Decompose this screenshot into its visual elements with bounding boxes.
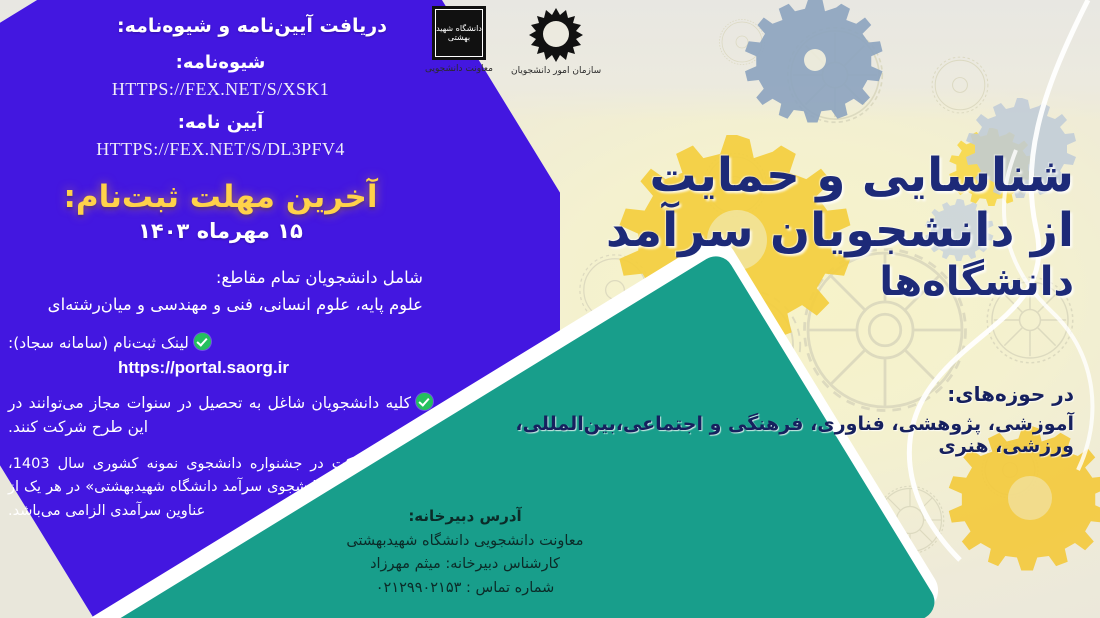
poster-canvas: دریافت آیین‌نامه و شیوه‌نامه: شیوه‌نامه:… (0, 0, 1100, 618)
method-url[interactable]: HTTPS://FEX.NET/S/XSK1 (8, 79, 433, 100)
saorg-starburst-icon (526, 6, 586, 62)
download-heading: دریافت آیین‌نامه و شیوه‌نامه: (8, 14, 415, 40)
logo-row: دانشگاه شهید بهشتی معاونت دانشجویی سازما… (425, 6, 655, 116)
sbu-emblem-icon: دانشگاه شهید بهشتی (432, 6, 486, 60)
scope-line-1: شامل دانشجویان تمام مقاطع: (8, 265, 433, 291)
sbu-caption: معاونت دانشجویی (425, 64, 493, 76)
method-label: شیوه‌نامه: (8, 50, 433, 75)
title-line-3: دانشگاه‌ها (574, 259, 1074, 306)
registration-portal-link[interactable]: https://portal.saorg.ir (8, 358, 399, 378)
secretariat-phone: شماره تماس : ۰۲۱۲۹۹۰۲۱۵۳ (300, 577, 630, 600)
fields-heading: در حوزه‌های: (454, 382, 1074, 406)
secretariat-block: آدرس دبیرخانه: معاونت دانشجویی دانشگاه ش… (300, 504, 630, 600)
deadline-heading: آخرین مهلت ثبت‌نام: (8, 178, 433, 217)
sbu-emblem-text: دانشگاه شهید بهشتی (435, 9, 483, 57)
bullet-item-registration-link: لینک ثبت‌نام (سامانه سجاد): (8, 331, 433, 356)
secretariat-line-2: کارشناس دبیرخانه: میثم مهرزاد (300, 553, 630, 576)
secretariat-heading: آدرس دبیرخانه: (300, 504, 630, 528)
regulation-url[interactable]: HTTPS://FEX.NET/S/DL3PFV4 (8, 139, 433, 160)
saorg-caption: سازمان امور دانشجویان (511, 66, 601, 78)
regulation-label: آیین نامه: (8, 110, 433, 135)
check-icon (194, 333, 211, 350)
deadline-date: ۱۵ مهرماه ۱۴۰۳ (8, 219, 433, 243)
scope-line-2: علوم پایه، علوم انسانی، فنی و مهندسی و م… (8, 292, 433, 318)
bullet-text: کلیه دانشجویان شاغل به تحصیل در سنوات مج… (8, 391, 411, 441)
fields-block: در حوزه‌های: آموزشی، پژوهشی، فناوری، فره… (454, 382, 1074, 457)
logo-shahid-beheshti-university: دانشگاه شهید بهشتی معاونت دانشجویی (425, 6, 493, 76)
bullet-text: لینک ثبت‌نام (سامانه سجاد): (8, 331, 189, 356)
secretariat-line-1: معاونت دانشجویی دانشگاه شهیدبهشتی (300, 530, 630, 553)
title-line-2: از دانشجویان سرآمد (574, 203, 1074, 258)
main-title: شناسایی و حمایت از دانشجویان سرآمد دانشگ… (574, 148, 1074, 306)
check-icon (416, 393, 433, 410)
bullet-item-eligibility: کلیه دانشجویان شاغل به تحصیل در سنوات مج… (8, 391, 433, 441)
title-line-1: شناسایی و حمایت (574, 148, 1074, 203)
fields-body: آموزشی، پژوهشی، فناوری، فرهنگی و اجتماعی… (454, 413, 1074, 457)
logo-student-affairs-organization: سازمان امور دانشجویان (511, 6, 601, 78)
